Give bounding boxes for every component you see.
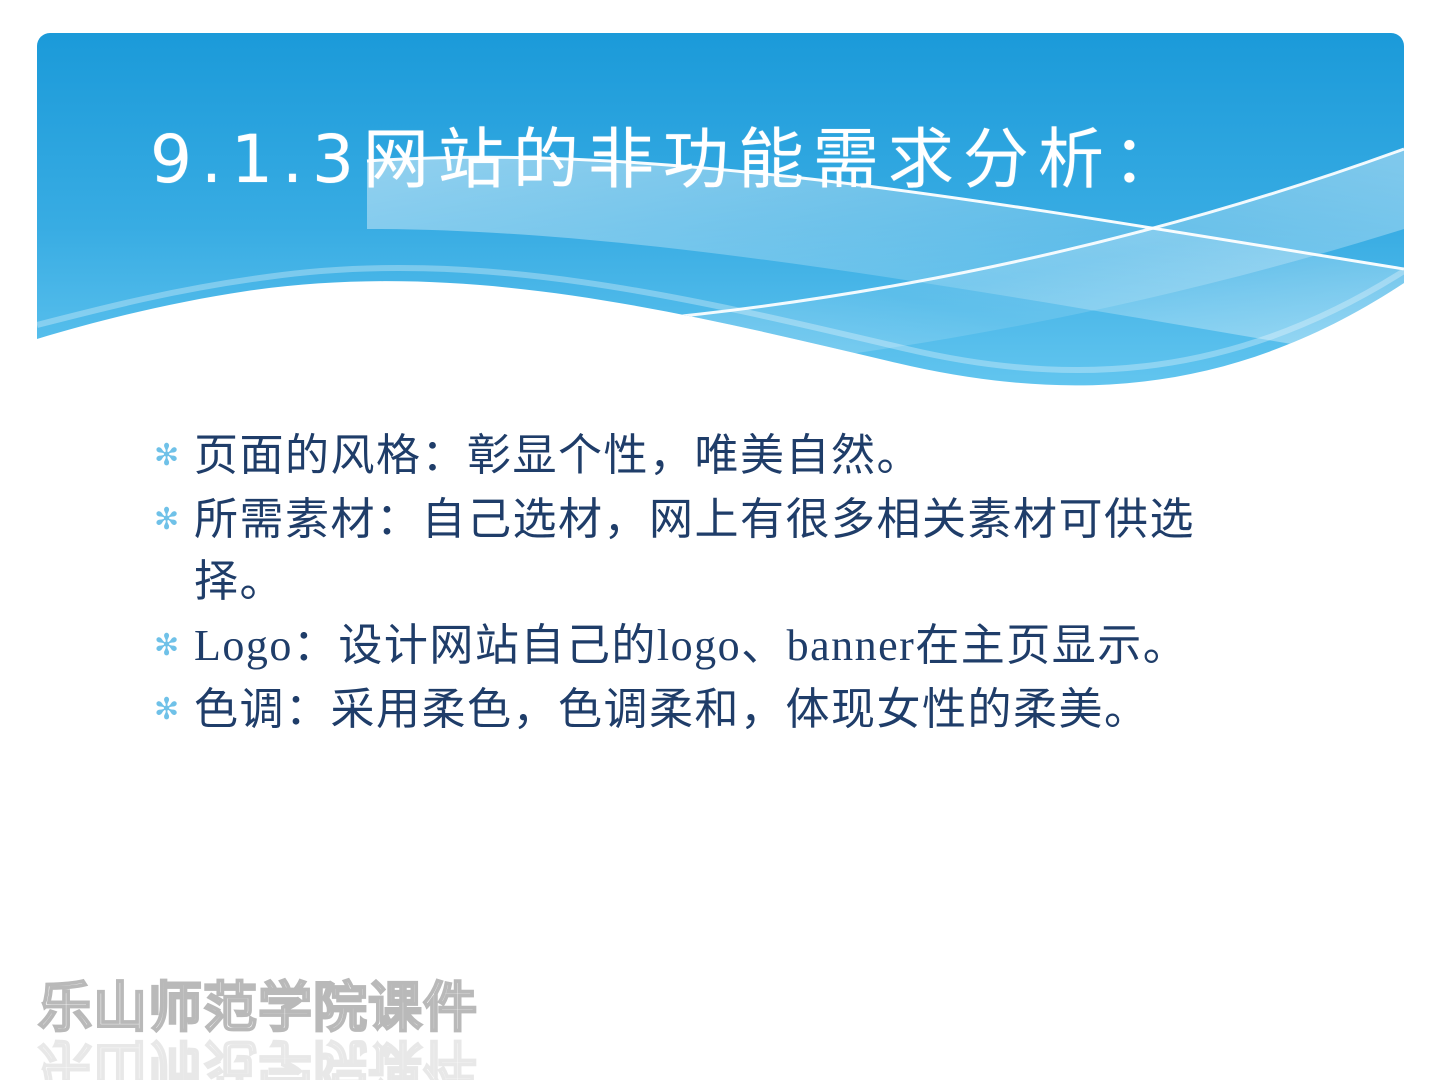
watermark-text: 乐山师范学院课件 (38, 978, 458, 1038)
watermark: 乐山师范学院课件 乐山师范学院课件 (38, 978, 458, 1078)
list-item: ✻ Logo：设计网站自己的logo、banner在主页显示。 (148, 615, 1328, 677)
list-item-label: Logo：设计网站自己的logo、banner在主页显示。 (194, 615, 1328, 677)
asterisk-bullet-icon: ✻ (148, 679, 194, 741)
presentation-slide: 9.1.3网站的非功能需求分析： ✻ 页面的风格：彰显个性，唯美自然。 ✻ 所需… (0, 0, 1440, 1080)
asterisk-bullet-icon: ✻ (148, 489, 194, 551)
list-item: ✻ 页面的风格：彰显个性，唯美自然。 (148, 425, 1328, 487)
list-item-label: 页面的风格：彰显个性，唯美自然。 (194, 425, 1328, 487)
watermark-reflection-text: 乐山师范学院课件 (38, 1034, 458, 1080)
list-item: ✻ 色调：采用柔色，色调柔和，体现女性的柔美。 (148, 679, 1328, 741)
bullet-list: ✻ 页面的风格：彰显个性，唯美自然。 ✻ 所需素材：自己选材，网上有很多相关素材… (148, 425, 1328, 743)
list-item: ✻ 所需素材：自己选材，网上有很多相关素材可供选择。 (148, 489, 1328, 613)
list-item-label: 所需素材：自己选材，网上有很多相关素材可供选择。 (194, 489, 1269, 613)
asterisk-bullet-icon: ✻ (148, 615, 194, 677)
list-item-label: 色调：采用柔色，色调柔和，体现女性的柔美。 (194, 679, 1328, 741)
slide-title: 9.1.3网站的非功能需求分析： (150, 108, 1330, 218)
asterisk-bullet-icon: ✻ (148, 425, 194, 487)
